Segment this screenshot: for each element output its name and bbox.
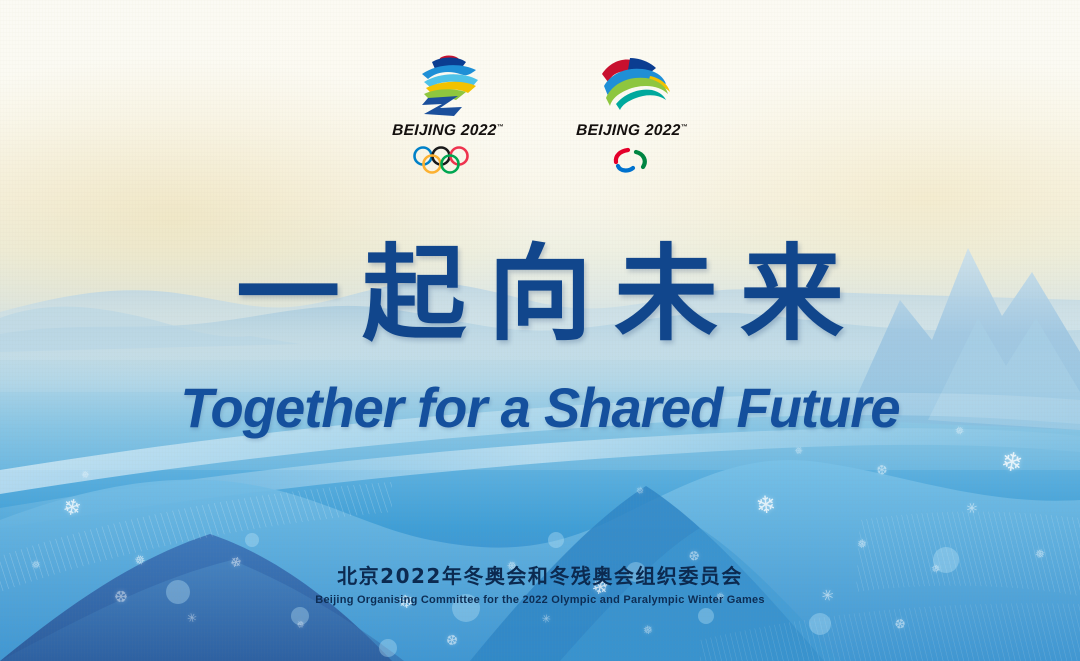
olympic-wordmark-text: BEIJING 2022	[392, 122, 497, 139]
beijing-2022-olympic-winter-games-emblem	[384, 52, 512, 118]
slogan-english: Together for a Shared Future	[16, 375, 1064, 440]
slogan-chinese: 一起向未来	[0, 236, 1080, 352]
paralympic-trademark: ™	[681, 124, 689, 131]
olympic-rings	[384, 145, 512, 175]
olympic-emblem-block: BEIJING 2022™	[384, 52, 512, 175]
organising-committee-footer: 北京2022年冬奥会和冬残奥会组织委员会 Beijing Organising …	[0, 560, 1080, 606]
paralympic-agitos	[568, 145, 696, 175]
emblem-row: BEIJING 2022™	[0, 52, 1080, 175]
paralympic-wordmark-text: BEIJING 2022	[576, 122, 681, 139]
beijing-2022-paralympic-winter-games-emblem	[568, 52, 696, 118]
footer-english: Beijing Organising Committee for the 202…	[0, 594, 1080, 606]
olympic-wordmark: BEIJING 2022™	[384, 122, 513, 140]
beijing-2022-poster: ❄❅❆❅❄✳❅❄❆❅✳❄❅❆❄❅✳❅❆❅❄✳❅❆❅❅❅❅ BEIJING 202…	[0, 0, 1080, 661]
olympic-trademark: ™	[497, 124, 505, 131]
paralympic-wordmark: BEIJING 2022™	[568, 122, 697, 140]
paralympic-emblem-block: BEIJING 2022™	[568, 52, 696, 175]
footer-chinese: 北京2022年冬奥会和冬残奥会组织委员会	[0, 560, 1080, 589]
